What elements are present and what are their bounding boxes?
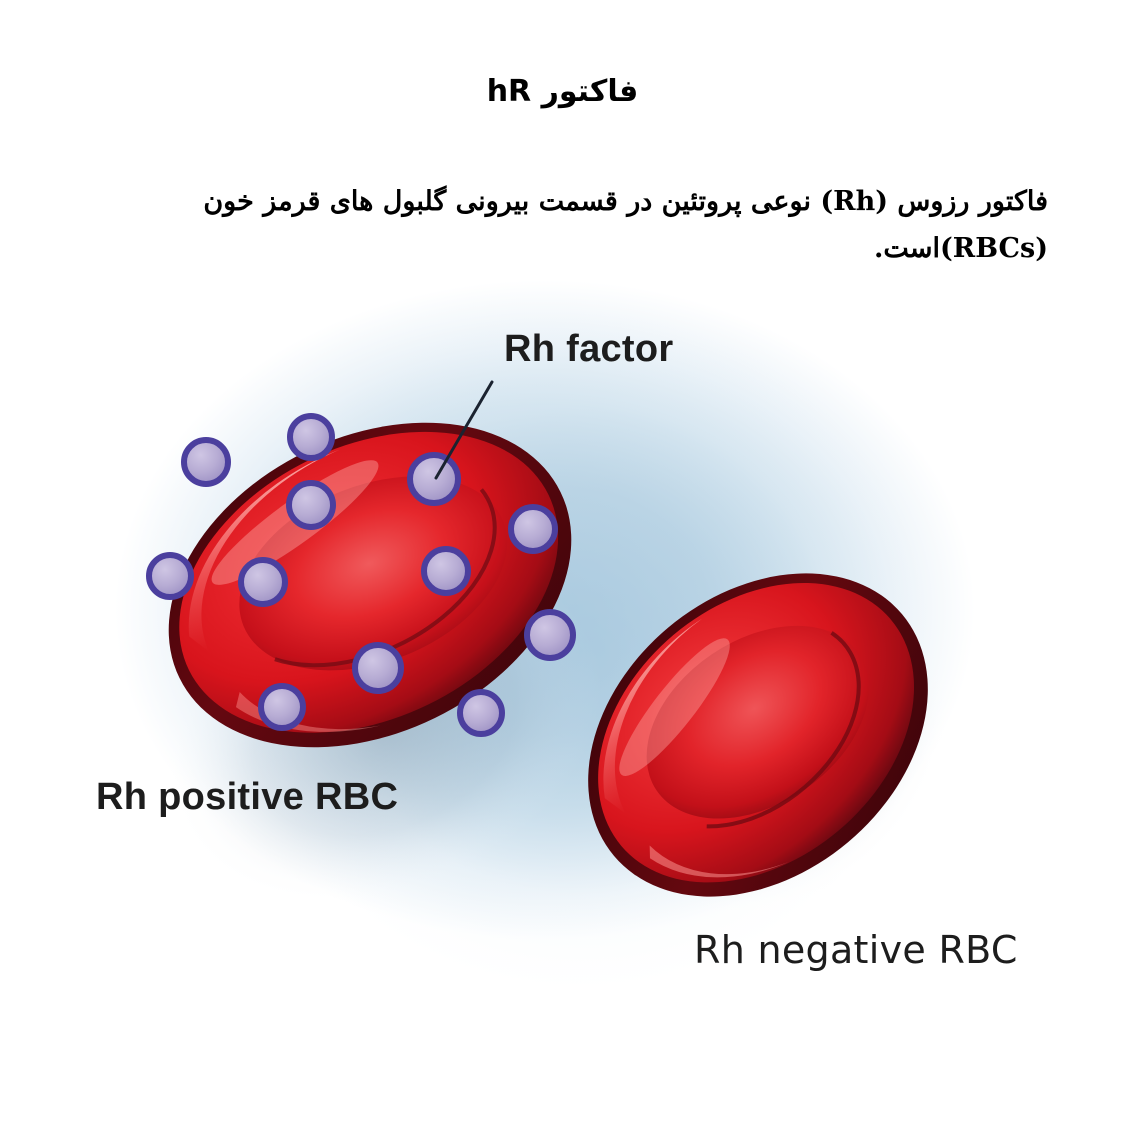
rh-negative-rbc-label: Rh negative RBC — [694, 928, 1018, 972]
rbc-illustration: Rh factor Rh positive RBC Rh negative RB… — [0, 280, 1125, 1125]
rh-factor-antigen — [184, 440, 228, 484]
rh-factor-antigen — [290, 416, 332, 458]
rh-factor-antigen — [355, 645, 401, 691]
page-title: فاکتور Rh — [0, 74, 1125, 109]
rh-factor-antigen — [241, 560, 285, 604]
rbc-diagram-svg — [0, 280, 1125, 1125]
rh-positive-rbc-label: Rh positive RBC — [96, 776, 398, 819]
page-root: فاکتور Rh فاکتور رزوس (Rh) نوعی پروتئین … — [0, 0, 1125, 1125]
rh-factor-antigen — [511, 507, 555, 551]
rh-factor-antigen — [424, 549, 468, 593]
intro-paragraph: فاکتور رزوس (Rh) نوعی پروتئین در قسمت بی… — [78, 178, 1048, 272]
rh-factor-antigen — [149, 555, 191, 597]
rh-factor-antigen — [527, 612, 573, 658]
rh-factor-antigen — [261, 686, 303, 728]
rh-factor-antigen — [460, 692, 502, 734]
rh-factor-label: Rh factor — [504, 328, 674, 371]
rh-factor-antigen — [410, 455, 458, 503]
rh-factor-antigen — [289, 483, 333, 527]
